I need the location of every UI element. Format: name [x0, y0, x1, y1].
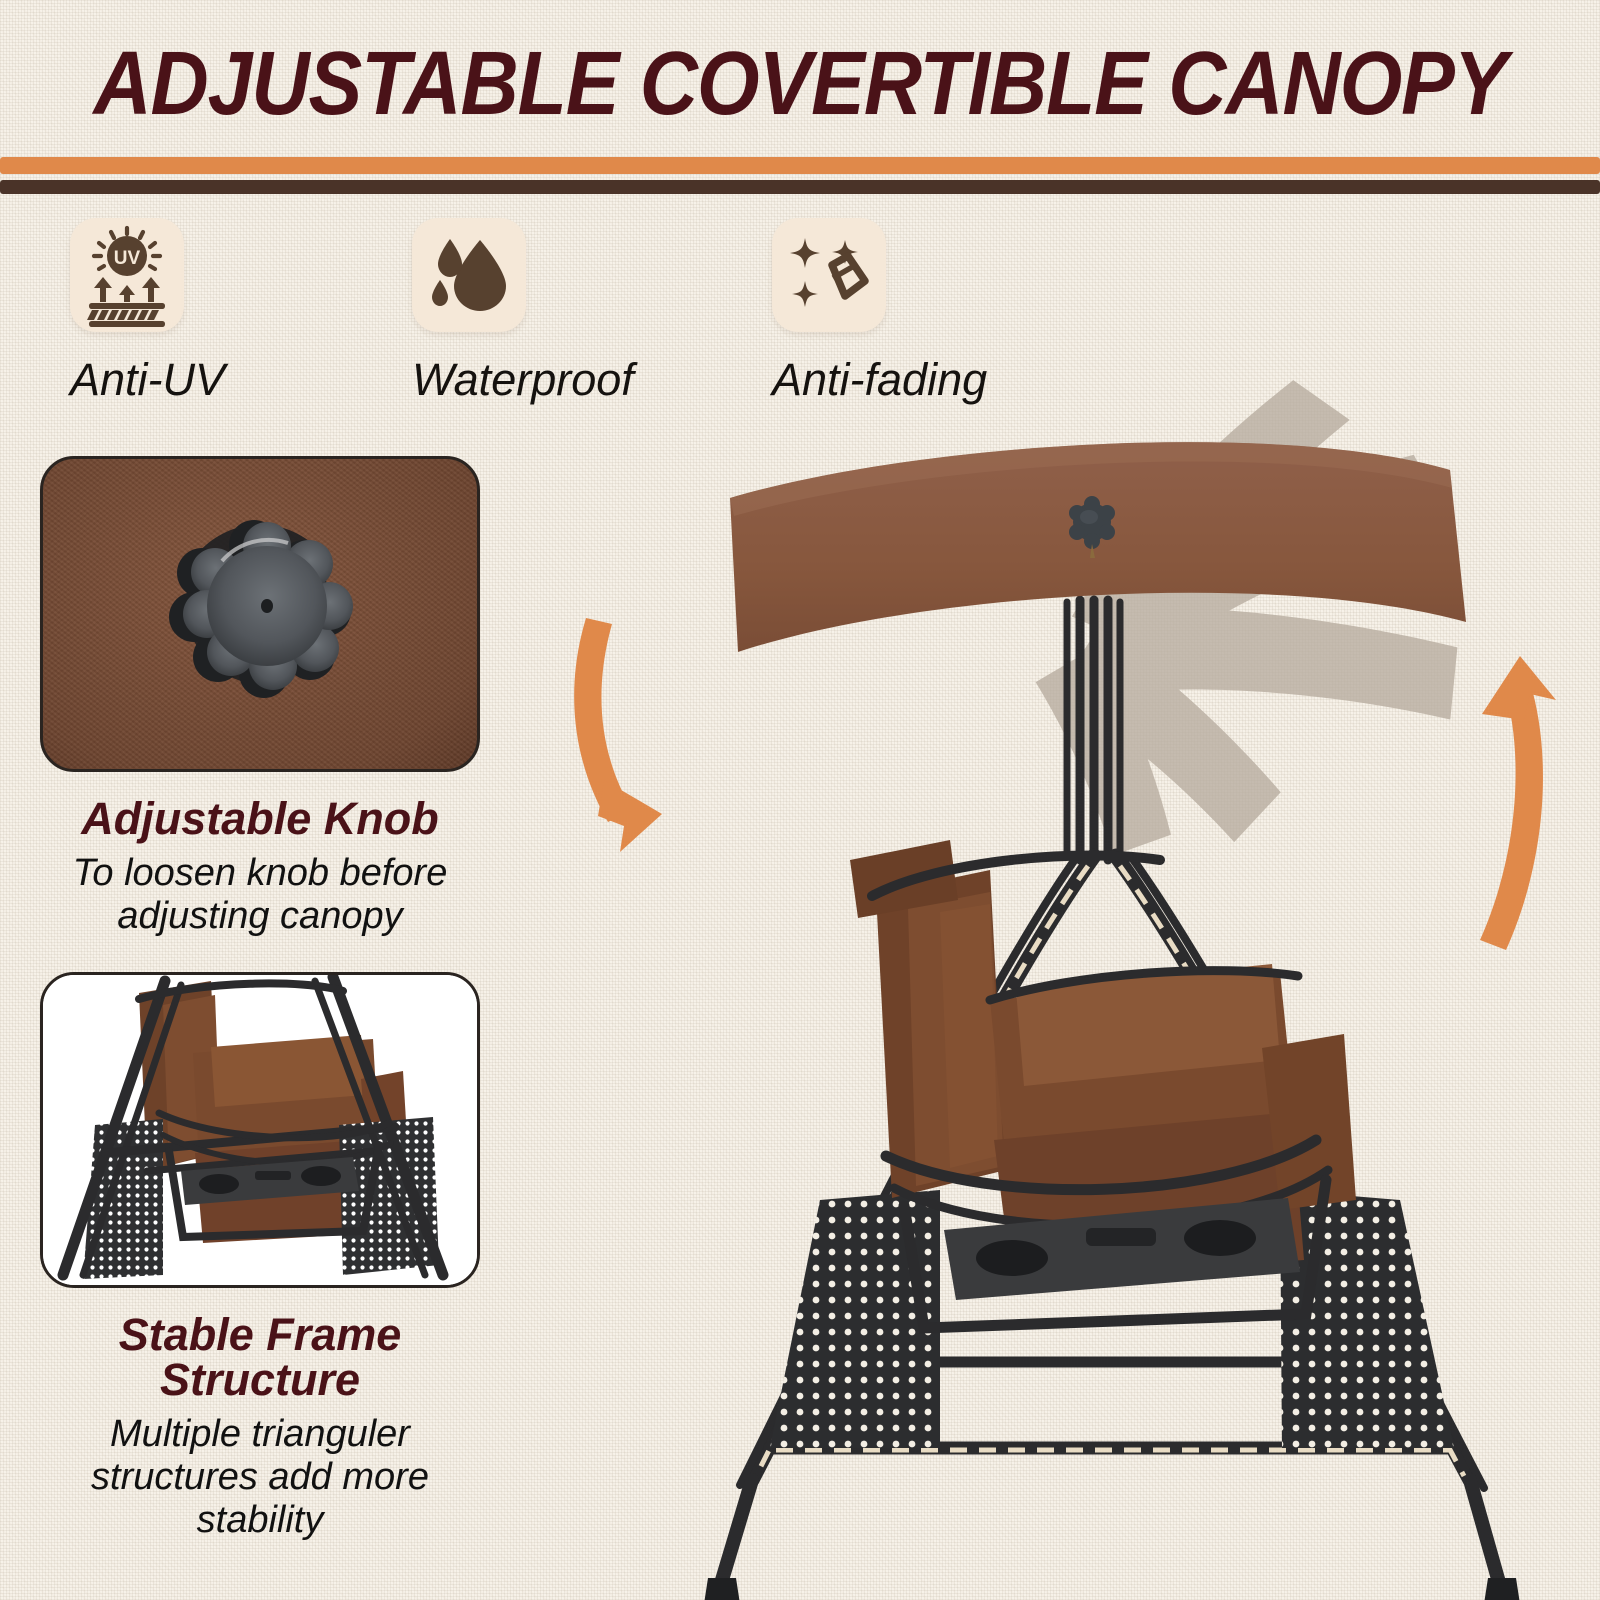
anti-uv-tile: UV — [70, 218, 184, 332]
frame-feet — [704, 1578, 1520, 1600]
anti-fading-tile — [772, 218, 886, 332]
knob-photo-card — [40, 456, 480, 772]
frame-caption: Stable Frame Structure Multiple triangul… — [40, 1308, 480, 1545]
feature-waterproof: Waterproof — [412, 218, 634, 406]
water-drop-icon — [412, 218, 526, 332]
rotate-down-arrow-head — [598, 780, 662, 852]
knob-caption: Adjustable Knob To loosen knob before ad… — [40, 792, 480, 941]
feature-label-anti-fading: Anti-fading — [772, 354, 987, 406]
rotate-up-arrow — [1480, 682, 1543, 950]
knob-caption-line1: To loosen knob before — [40, 849, 480, 898]
svg-text:UV: UV — [114, 248, 141, 269]
divider-brown — [0, 180, 1600, 194]
stable-frame-photo — [43, 975, 477, 1285]
feature-label-anti-uv: Anti-UV — [70, 354, 225, 406]
product-illustration — [520, 300, 1600, 1600]
frame-caption-line2: structures add more — [40, 1453, 480, 1502]
knob-caption-line2: adjusting canopy — [40, 892, 480, 941]
frame-caption-title-line2: Structure — [40, 1353, 480, 1406]
frame-caption-line1: Multiple trianguler — [40, 1410, 480, 1459]
sparkle-wand-icon — [772, 218, 886, 332]
frame-caption-line3: stability — [40, 1496, 480, 1545]
divider-orange — [0, 157, 1600, 174]
knob-caption-title: Adjustable Knob — [40, 792, 480, 845]
waterproof-tile — [412, 218, 526, 332]
feature-anti-uv: UV Anti-UV — [70, 218, 225, 406]
rotate-up-arrow-head — [1482, 656, 1556, 720]
adjustable-knob-photo — [43, 459, 477, 769]
frame-photo-card — [40, 972, 480, 1288]
page-title: ADJUSTABLE COVERTIBLE CANOPY — [0, 34, 1600, 135]
feature-label-waterproof: Waterproof — [412, 354, 634, 406]
feature-anti-fading: Anti-fading — [772, 218, 987, 406]
anti-uv-icon: UV — [70, 218, 184, 332]
